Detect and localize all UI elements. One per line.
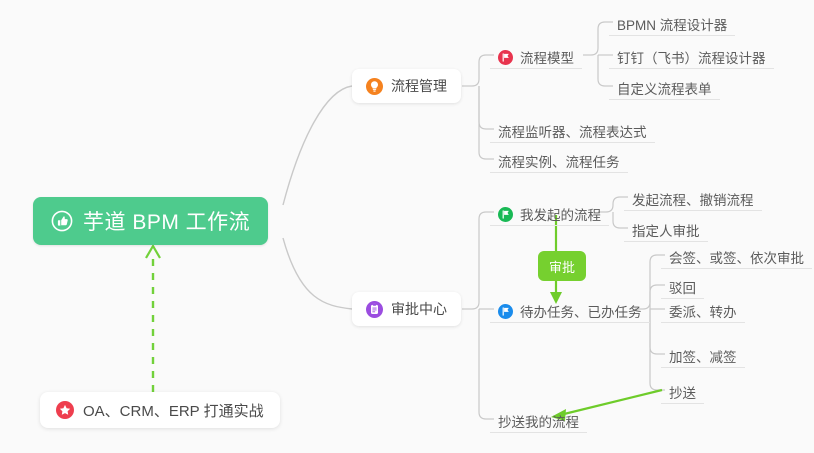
node-countersign[interactable]: 会签、或签、依次审批 bbox=[661, 242, 812, 269]
connector-root-to-process-management bbox=[283, 86, 352, 205]
node-label-add-remove-sign: 加签、减签 bbox=[669, 351, 737, 365]
annotation-label-integration-note: OA、CRM、ERP 打通实战 bbox=[83, 400, 264, 421]
clipboard-icon bbox=[366, 301, 383, 318]
node-label-todo-done-tasks: 待办任务、已办任务 bbox=[520, 306, 642, 320]
root-node[interactable]: 芋道 BPM 工作流 bbox=[33, 197, 268, 245]
node-process-model[interactable]: 流程模型 bbox=[490, 42, 582, 69]
node-instance-task[interactable]: 流程实例、流程任务 bbox=[490, 146, 628, 173]
lightbulb-icon bbox=[366, 78, 383, 95]
node-label-my-initiated: 我发起的流程 bbox=[520, 209, 601, 223]
flag-icon bbox=[498, 304, 513, 319]
connector-approval-center-to-cc bbox=[479, 309, 494, 419]
node-label-carbon-copy: 抄送 bbox=[669, 387, 696, 401]
node-label-listener-expression: 流程监听器、流程表达式 bbox=[498, 126, 647, 140]
node-label-dingtalk-feishu-designer: 钉钉（飞书）流程设计器 bbox=[617, 52, 766, 66]
node-start-cancel-process[interactable]: 发起流程、撤销流程 bbox=[624, 184, 762, 211]
node-bpmn-designer[interactable]: BPMN 流程设计器 bbox=[609, 9, 735, 36]
node-label-custom-process-form: 自定义流程表单 bbox=[617, 83, 712, 97]
node-label-start-cancel-process: 发起流程、撤销流程 bbox=[632, 194, 754, 208]
branch-label-process-management: 流程管理 bbox=[391, 76, 447, 96]
edge-label-approval: 审批 bbox=[538, 251, 586, 281]
branch-node-process-management[interactable]: 流程管理 bbox=[352, 69, 461, 103]
node-label-instance-task: 流程实例、流程任务 bbox=[498, 156, 620, 170]
node-reject[interactable]: 驳回 bbox=[661, 272, 704, 299]
node-todo-done-tasks[interactable]: 待办任务、已办任务 bbox=[490, 296, 650, 323]
arrow-integration-note-to-root-head bbox=[146, 246, 160, 258]
thumbs-up-icon bbox=[51, 210, 73, 232]
annotation-integration-note[interactable]: OA、CRM、ERP 打通实战 bbox=[40, 392, 280, 428]
node-label-reject: 驳回 bbox=[669, 282, 696, 296]
node-dingtalk-feishu-designer[interactable]: 钉钉（飞书）流程设计器 bbox=[609, 42, 774, 69]
mindmap-canvas: 芋道 BPM 工作流 流程管理 流程模型 流程监听器、流程表达式 流程实例、流 bbox=[0, 0, 814, 453]
node-label-delegate-transfer: 委派、转办 bbox=[669, 306, 737, 320]
branch-label-approval-center: 审批中心 bbox=[391, 299, 447, 319]
star-icon bbox=[56, 401, 74, 419]
node-label-bpmn-designer: BPMN 流程设计器 bbox=[617, 19, 727, 33]
node-label-cc-to-me: 抄送我的流程 bbox=[498, 416, 579, 430]
connector-root-to-approval-center bbox=[283, 238, 352, 309]
node-custom-process-form[interactable]: 自定义流程表单 bbox=[609, 73, 720, 100]
node-listener-expression[interactable]: 流程监听器、流程表达式 bbox=[490, 116, 655, 143]
node-assignee-approval[interactable]: 指定人审批 bbox=[624, 215, 708, 242]
node-my-initiated[interactable]: 我发起的流程 bbox=[490, 199, 609, 226]
connector-approval-center-trunk bbox=[462, 212, 494, 309]
node-cc-to-me[interactable]: 抄送我的流程 bbox=[490, 406, 587, 433]
flag-icon bbox=[498, 50, 513, 65]
root-label: 芋道 BPM 工作流 bbox=[83, 206, 250, 236]
node-label-countersign: 会签、或签、依次审批 bbox=[669, 252, 804, 266]
branch-node-approval-center[interactable]: 审批中心 bbox=[352, 292, 461, 326]
node-delegate-transfer[interactable]: 委派、转办 bbox=[661, 296, 745, 323]
edge-label-approval-text: 审批 bbox=[549, 257, 575, 276]
node-add-remove-sign[interactable]: 加签、减签 bbox=[661, 341, 745, 368]
flag-icon bbox=[498, 207, 513, 222]
node-carbon-copy[interactable]: 抄送 bbox=[661, 377, 704, 404]
node-label-process-model: 流程模型 bbox=[520, 52, 574, 66]
node-label-assignee-approval: 指定人审批 bbox=[632, 225, 700, 239]
